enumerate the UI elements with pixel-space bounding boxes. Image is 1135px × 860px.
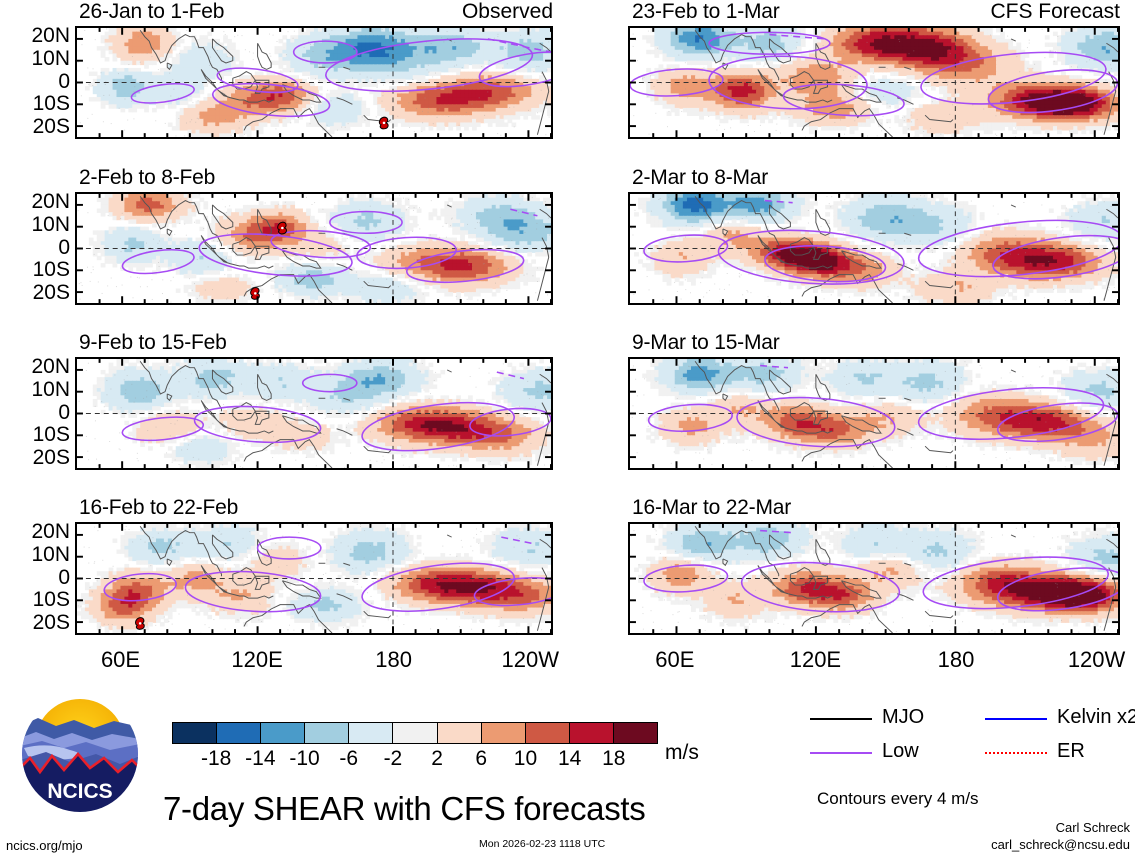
y-tick-label: 0 [0,401,70,425]
colorbar-swatch [173,723,217,743]
legend-label: ER [1057,740,1085,763]
x-tick-label: 120E [212,647,302,673]
colorbar-units: m/s [665,741,699,765]
y-tick-label: 20S [0,115,70,139]
y-tick-label: 10N [0,47,70,71]
map-plot-area [75,26,553,139]
panel-title: 16-Feb to 22-Feb [79,496,238,520]
ncics-logo: NCICS [20,694,140,814]
credit-name: Carl Schreck [885,820,1130,835]
legend-line-mjo [810,718,872,720]
y-tick-label: 20S [0,281,70,305]
colorbar-swatch [217,723,261,743]
y-tick-label: 10S [0,258,70,282]
x-tick-label: 180 [911,647,1001,673]
legend-line-er [985,752,1047,754]
contour-interval-note: Contours every 4 m/s [817,789,979,809]
y-tick-label: 20N [0,190,70,214]
y-tick-label: 10N [0,543,70,567]
panel-left-row3: 9-Feb to 15-Feb [75,333,553,470]
x-tick-label: 120W [1052,647,1135,673]
contour-legend: MJOKelvin x2LowER [810,706,1135,772]
colorbar-tick-labels: -18-14-10-6-226101418 [172,747,658,773]
map-plot-area [75,522,553,635]
credit-email[interactable]: carl_schreck@ncsu.edu [885,837,1130,852]
panel-left-row1: 26-Jan to 1-FebObserved [75,2,553,139]
panel-right-row3: 9-Mar to 15-Mar [628,333,1120,470]
panel-right-row2: 2-Mar to 8-Mar [628,168,1120,305]
map-plot-area [628,522,1120,635]
colorbar-tick: 18 [586,747,642,771]
map-plot-area [75,357,553,470]
timestamp: Mon 2026-02-23 1118 UTC [479,838,605,850]
map-plot-area [628,192,1120,305]
y-tick-label: 20S [0,446,70,470]
colorbar-swatch [614,723,657,743]
colorbar [172,722,658,744]
panel-title: 2-Mar to 8-Mar [632,166,768,190]
column-header: Observed [462,0,553,24]
colorbar-swatch [526,723,570,743]
column-header: CFS Forecast [990,0,1120,24]
panel-title: 9-Feb to 15-Feb [79,331,227,355]
panel-title: 9-Mar to 15-Mar [632,331,780,355]
colorbar-swatch [349,723,393,743]
map-plot-area [628,26,1120,139]
y-tick-label: 10S [0,92,70,116]
legend-label: Kelvin x2 [1057,706,1135,729]
map-plot-area [628,357,1120,470]
logo-text: NCICS [47,780,112,803]
colorbar-swatch [261,723,305,743]
panel-left-row2: 2-Feb to 8-Feb [75,168,553,305]
main-title: 7-day SHEAR with CFS forecasts [163,790,646,828]
legend-label: MJO [882,706,924,729]
y-tick-label: 10N [0,213,70,237]
colorbar-swatch [305,723,349,743]
colorbar-swatch [438,723,482,743]
panel-right-row1: 23-Feb to 1-MarCFS Forecast [628,2,1120,139]
y-tick-label: 20N [0,355,70,379]
x-tick-label: 180 [349,647,439,673]
legend-line-kelvin-x2 [985,718,1047,720]
x-tick-label: 60E [76,647,166,673]
panel-left-row4: 16-Feb to 22-Feb [75,498,553,635]
x-tick-label: 120E [770,647,860,673]
panel-title: 2-Feb to 8-Feb [79,166,215,190]
y-tick-label: 0 [0,566,70,590]
y-tick-label: 0 [0,236,70,260]
colorbar-swatch [393,723,437,743]
panel-title: 26-Jan to 1-Feb [79,0,224,24]
colorbar-swatch [570,723,614,743]
legend-line-low [810,752,872,754]
y-tick-label: 0 [0,70,70,94]
x-tick-label: 60E [630,647,720,673]
y-tick-label: 20S [0,611,70,635]
x-tick-label: 120W [485,647,575,673]
y-tick-label: 10S [0,423,70,447]
y-tick-label: 10N [0,378,70,402]
legend-label: Low [882,740,919,763]
panel-title: 23-Feb to 1-Mar [632,0,780,24]
y-tick-label: 10S [0,588,70,612]
panel-title: 16-Mar to 22-Mar [632,496,791,520]
map-plot-area [75,192,553,305]
panel-right-row4: 16-Mar to 22-Mar [628,498,1120,635]
colorbar-swatch [482,723,526,743]
y-tick-label: 20N [0,520,70,544]
site-url[interactable]: ncics.org/mjo [6,838,83,853]
y-tick-label: 20N [0,24,70,48]
